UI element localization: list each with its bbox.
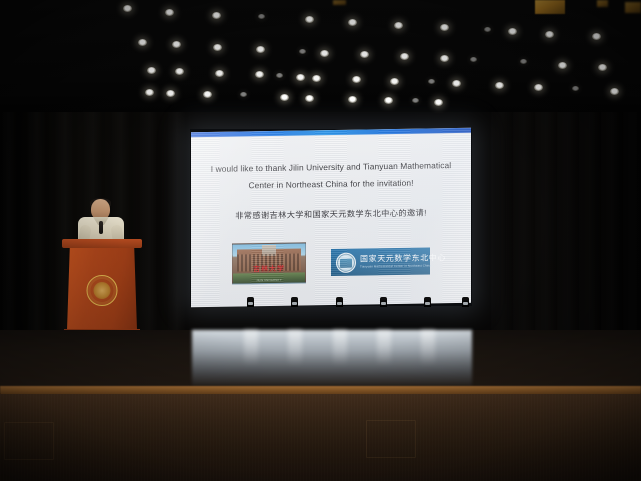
amber-ceiling-panel-1 — [535, 0, 565, 14]
ceiling-spotlight — [360, 51, 369, 58]
ceiling-spotlight — [470, 57, 477, 62]
ceiling-spotlight — [123, 5, 132, 12]
ceiling-spotlight — [572, 86, 579, 91]
ceiling-spotlight — [348, 96, 357, 103]
podium — [64, 239, 140, 339]
floor-light-fixture — [291, 297, 298, 307]
floor-reflection-streak-3 — [333, 330, 347, 366]
ceiling-spotlight — [352, 76, 361, 83]
tianyuan-center-logo: 国家天元数学东北中心 Tianyuan Mathematical Center … — [331, 247, 430, 276]
slide-logo-row: 吉林大学 JILIN UNIVERSITY 国家天元数学东北中心 Tianyua… — [191, 240, 471, 285]
ceiling-spotlight — [172, 41, 181, 48]
ceiling-spotlight — [558, 62, 567, 69]
ceiling-spotlight — [175, 68, 184, 75]
ceiling-spotlight — [412, 98, 419, 103]
ceiling-spotlight — [520, 59, 527, 64]
ceiling-spotlight — [240, 92, 247, 97]
ceiling-spotlight — [166, 90, 175, 97]
ceiling-spotlight — [215, 70, 224, 77]
presentation-slide: I would like to thank Jilin University a… — [191, 128, 471, 307]
ceiling-spotlight — [440, 24, 449, 31]
ceiling-spotlight — [256, 46, 265, 53]
ceiling-spotlight — [390, 78, 399, 85]
stage-front-panel — [0, 394, 641, 481]
ceiling-spotlight — [255, 71, 264, 78]
ceiling-spotlight — [312, 75, 321, 82]
ceiling-spotlight — [592, 33, 601, 40]
ceiling-spotlight — [545, 31, 554, 38]
ceiling-spotlight — [165, 9, 174, 16]
floor-light-fixture — [424, 297, 431, 307]
tianyuan-english-name: Tianyuan Mathematical Center in Northeas… — [360, 264, 446, 268]
amber-ceiling-panel-4 — [333, 0, 346, 5]
floor-light-fixture — [380, 297, 387, 307]
jilin-university-logo: 吉林大学 JILIN UNIVERSITY — [232, 242, 306, 284]
ceiling-spotlight — [428, 79, 435, 84]
ceiling-spotlight — [384, 97, 393, 104]
ceiling-spotlight — [280, 94, 289, 101]
ceiling-spotlight — [508, 28, 517, 35]
ceiling-spotlight — [213, 44, 222, 51]
ceiling-spotlight — [434, 99, 443, 106]
ceiling-spotlight — [145, 89, 154, 96]
ceiling-spotlight — [598, 64, 607, 71]
tianyuan-seal-icon — [336, 252, 356, 272]
ceiling-spotlight — [440, 55, 449, 62]
ceiling-spotlight — [394, 22, 403, 29]
ceiling-spotlight — [484, 27, 491, 32]
tianyuan-logo-text: 国家天元数学东北中心 Tianyuan Mathematical Center … — [360, 254, 446, 268]
ceiling-spotlight — [138, 39, 147, 46]
floor-reflection-streak-2 — [288, 330, 302, 366]
floor-reflection-streak-4 — [377, 330, 391, 366]
ceiling-spotlight — [258, 14, 265, 19]
projection-screen: I would like to thank Jilin University a… — [190, 129, 472, 306]
ceiling-spotlight — [452, 80, 461, 87]
floor-light-fixture — [247, 297, 254, 307]
ceiling-spotlight — [400, 53, 409, 60]
ceiling-spotlight — [147, 67, 156, 74]
podium-university-seal-icon — [87, 275, 118, 306]
ceiling-spotlight — [610, 88, 619, 95]
floor-reflection-streak-5 — [421, 330, 435, 366]
slide-english-text: I would like to thank Jilin University a… — [205, 157, 457, 195]
stage-front-vent-left — [4, 422, 54, 460]
floor-light-fixture — [336, 297, 343, 307]
auditorium-stage-photo: I would like to thank Jilin University a… — [0, 0, 641, 481]
ceiling-spotlight — [299, 49, 306, 54]
ceiling-spotlight — [305, 95, 314, 102]
ceiling-spotlight — [212, 12, 221, 19]
podium-top-surface — [62, 239, 142, 248]
ceiling-spotlight — [296, 74, 305, 81]
amber-ceiling-panel-3 — [597, 0, 608, 7]
ceiling — [0, 0, 641, 112]
jlu-chinese-name: 吉林大学 — [233, 264, 305, 275]
ceiling-spotlight — [495, 82, 504, 89]
ceiling-spotlight — [203, 91, 212, 98]
amber-ceiling-panel-2 — [625, 2, 641, 13]
ceiling-spotlight — [305, 16, 314, 23]
ceiling-spotlight — [534, 84, 543, 91]
floor-reflection-streak-1 — [244, 330, 258, 366]
ceiling-spotlight — [348, 19, 357, 26]
microphone-icon — [99, 221, 103, 234]
ceiling-spotlight — [276, 73, 283, 78]
tianyuan-chinese-name: 国家天元数学东北中心 — [360, 254, 446, 263]
ceiling-spotlight — [320, 50, 329, 57]
floor-light-fixture — [462, 297, 469, 307]
slide-chinese-text: 非常感谢吉林大学和国家天元数学东北中心的邀请! — [205, 206, 457, 222]
stage-front-vent-right — [366, 420, 416, 458]
